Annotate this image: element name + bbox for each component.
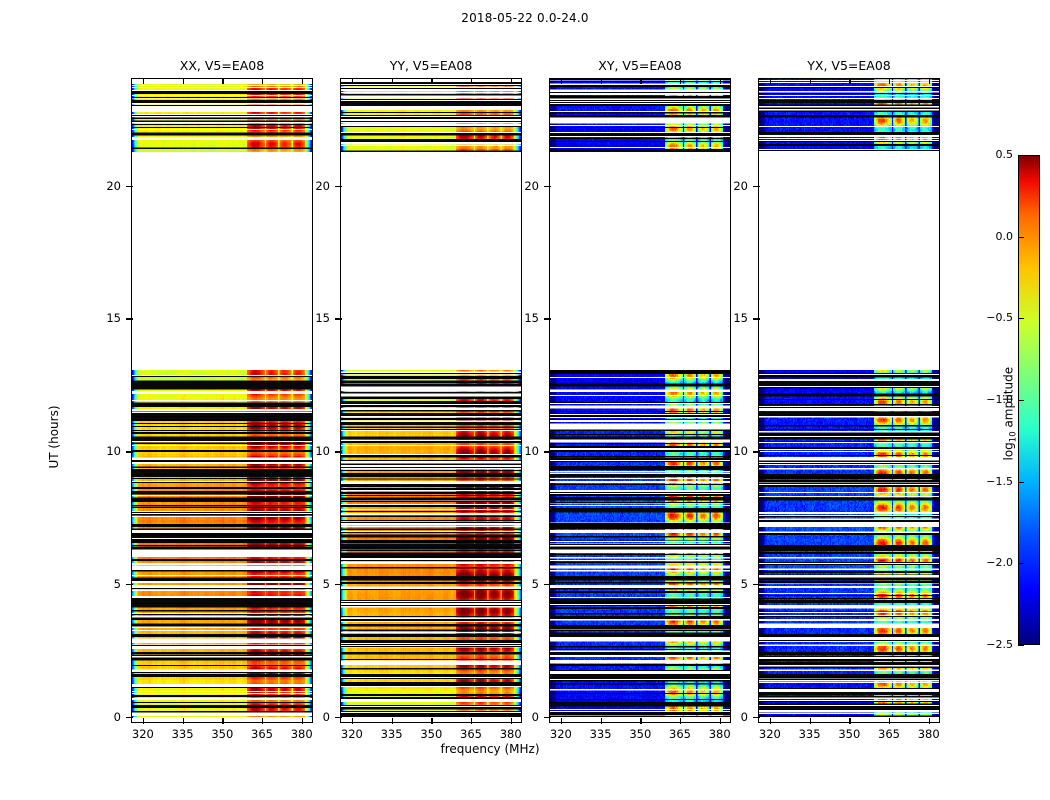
- y-tick-20-panel-xy: [544, 186, 551, 187]
- y-tick-15-panel-yx: [753, 318, 760, 319]
- spectrum-panel-yx[interactable]: [758, 78, 940, 723]
- y-tick-10-panel-xy: [544, 451, 551, 452]
- x-tick-top-365-panel-yx: [889, 78, 890, 84]
- y-tick-0-panel-yx: [753, 717, 760, 718]
- x-tick-label-380-panel-yx: 380: [909, 727, 949, 741]
- y-tick-0-panel-xx: [126, 717, 133, 718]
- y-tick-15-panel-yy: [335, 318, 342, 319]
- x-tick-label-350-panel-xx: 350: [202, 727, 242, 741]
- x-tick-label-365-panel-yx: 365: [869, 727, 909, 741]
- y-tick-0-panel-xy: [544, 717, 551, 718]
- x-tick-label-335-panel-yx: 335: [790, 727, 830, 741]
- y-tick-label-0-panel-yx: 0: [708, 710, 748, 724]
- x-tick-350-panel-xy: [640, 718, 641, 724]
- x-tick-top-320-panel-xx: [143, 78, 144, 84]
- x-tick-320-panel-xy: [561, 718, 562, 724]
- y-tick-label-15-panel-yy: 15: [290, 311, 330, 325]
- y-tick-label-15-panel-yx: 15: [708, 311, 748, 325]
- x-tick-top-380-panel-xx: [302, 78, 303, 84]
- x-tick-350-panel-yx: [849, 718, 850, 724]
- y-tick-label-5-panel-xy: 5: [499, 577, 539, 591]
- y-tick-label-20-panel-yx: 20: [708, 179, 748, 193]
- x-tick-top-350-panel-yy: [431, 78, 432, 84]
- y-tick-label-0-panel-yy: 0: [290, 710, 330, 724]
- x-tick-label-335-panel-xx: 335: [163, 727, 203, 741]
- colorbar-tick-label-5: 0.0: [973, 230, 1013, 243]
- x-tick-380-panel-yy: [511, 718, 512, 724]
- x-tick-top-380-panel-yx: [929, 78, 930, 84]
- x-tick-top-335-panel-xy: [601, 78, 602, 84]
- x-tick-label-380-panel-yy: 380: [491, 727, 531, 741]
- colorbar-label-sub: 10: [1009, 431, 1019, 442]
- colorbar-label-prefix: log: [1001, 442, 1015, 460]
- x-tick-label-365-panel-xy: 365: [660, 727, 700, 741]
- x-tick-label-380-panel-xx: 380: [282, 727, 322, 741]
- x-tick-label-320-panel-xx: 320: [123, 727, 163, 741]
- x-tick-top-380-panel-xy: [720, 78, 721, 84]
- x-tick-335-panel-yy: [392, 718, 393, 724]
- x-tick-365-panel-yy: [471, 718, 472, 724]
- y-tick-5-panel-yx: [753, 584, 760, 585]
- y-tick-15-panel-xx: [126, 318, 133, 319]
- colorbar-tick-label-1: −2.0: [973, 556, 1013, 569]
- colorbar-tick-0: [1018, 645, 1024, 646]
- y-tick-label-5-panel-yy: 5: [290, 577, 330, 591]
- y-tick-label-10-panel-xy: 10: [499, 444, 539, 458]
- x-tick-label-320-panel-xy: 320: [541, 727, 581, 741]
- x-tick-label-350-panel-yx: 350: [829, 727, 869, 741]
- y-tick-20-panel-xx: [126, 186, 133, 187]
- y-axis-title: UT (hours): [47, 377, 61, 497]
- x-tick-label-335-panel-yy: 335: [372, 727, 412, 741]
- y-tick-5-panel-xy: [544, 584, 551, 585]
- x-tick-380-panel-xx: [302, 718, 303, 724]
- y-tick-0-panel-yy: [335, 717, 342, 718]
- y-tick-20-panel-yy: [335, 186, 342, 187]
- x-tick-label-380-panel-xy: 380: [700, 727, 740, 741]
- x-tick-top-320-panel-yx: [770, 78, 771, 84]
- x-tick-380-panel-yx: [929, 718, 930, 724]
- y-tick-10-panel-yy: [335, 451, 342, 452]
- y-tick-label-10-panel-xx: 10: [81, 444, 121, 458]
- x-tick-label-365-panel-xx: 365: [242, 727, 282, 741]
- x-tick-335-panel-yx: [810, 718, 811, 724]
- x-tick-top-365-panel-xy: [680, 78, 681, 84]
- y-tick-label-0-panel-xy: 0: [499, 710, 539, 724]
- colorbar-tick-label-6: 0.5: [973, 148, 1013, 161]
- y-tick-label-15-panel-xx: 15: [81, 311, 121, 325]
- x-tick-350-panel-yy: [431, 718, 432, 724]
- x-tick-top-320-panel-yy: [352, 78, 353, 84]
- colorbar-tick-label-3: −1.0: [973, 393, 1013, 406]
- y-tick-10-panel-yx: [753, 451, 760, 452]
- x-tick-top-350-panel-yx: [849, 78, 850, 84]
- colorbar-tick-5: [1018, 237, 1024, 238]
- x-tick-label-350-panel-yy: 350: [411, 727, 451, 741]
- x-tick-365-panel-yx: [889, 718, 890, 724]
- y-tick-5-panel-yy: [335, 584, 342, 585]
- x-tick-top-365-panel-yy: [471, 78, 472, 84]
- x-tick-label-335-panel-xy: 335: [581, 727, 621, 741]
- x-tick-top-350-panel-xx: [222, 78, 223, 84]
- spectrum-panel-xx[interactable]: [131, 78, 313, 723]
- colorbar-tick-6: [1018, 155, 1024, 156]
- x-tick-top-335-panel-xx: [183, 78, 184, 84]
- panel-title-xy: XY, V5=EA08: [549, 58, 731, 73]
- y-tick-label-20-panel-yy: 20: [290, 179, 330, 193]
- y-tick-15-panel-xy: [544, 318, 551, 319]
- x-tick-365-panel-xy: [680, 718, 681, 724]
- colorbar-tick-2: [1018, 482, 1024, 483]
- x-tick-top-335-panel-yy: [392, 78, 393, 84]
- x-tick-335-panel-xy: [601, 718, 602, 724]
- colorbar-tick-label-4: −0.5: [973, 311, 1013, 324]
- y-tick-label-5-panel-yx: 5: [708, 577, 748, 591]
- y-tick-5-panel-xx: [126, 584, 133, 585]
- x-tick-320-panel-xx: [143, 718, 144, 724]
- spectrum-panel-xy[interactable]: [549, 78, 731, 723]
- x-tick-top-320-panel-xy: [561, 78, 562, 84]
- panel-title-yx: YX, V5=EA08: [758, 58, 940, 73]
- y-tick-label-5-panel-xx: 5: [81, 577, 121, 591]
- y-tick-label-0-panel-xx: 0: [81, 710, 121, 724]
- x-tick-380-panel-xy: [720, 718, 721, 724]
- x-tick-350-panel-xx: [222, 718, 223, 724]
- spectrum-panel-yy[interactable]: [340, 78, 522, 723]
- figure-canvas: 2018-05-22 0.0-24.0 XX, V5=EA08 YY, V5=E…: [0, 0, 1050, 800]
- x-tick-top-335-panel-yx: [810, 78, 811, 84]
- colorbar-tick-3: [1018, 400, 1024, 401]
- colorbar-tick-4: [1018, 318, 1024, 319]
- x-tick-335-panel-xx: [183, 718, 184, 724]
- x-tick-top-365-panel-xx: [262, 78, 263, 84]
- colorbar-tick-label-0: −2.5: [973, 638, 1013, 651]
- y-tick-label-20-panel-xx: 20: [81, 179, 121, 193]
- x-tick-label-365-panel-yy: 365: [451, 727, 491, 741]
- colorbar-tick-1: [1018, 563, 1024, 564]
- x-tick-label-320-panel-yx: 320: [750, 727, 790, 741]
- x-tick-label-320-panel-yy: 320: [332, 727, 372, 741]
- x-tick-top-380-panel-yy: [511, 78, 512, 84]
- figure-suptitle: 2018-05-22 0.0-24.0: [0, 11, 1050, 25]
- panel-title-yy: YY, V5=EA08: [340, 58, 522, 73]
- y-tick-20-panel-yx: [753, 186, 760, 187]
- y-tick-label-20-panel-xy: 20: [499, 179, 539, 193]
- x-tick-top-350-panel-xy: [640, 78, 641, 84]
- y-tick-10-panel-xx: [126, 451, 133, 452]
- x-axis-title: frequency (MHz): [400, 742, 580, 756]
- y-tick-label-10-panel-yy: 10: [290, 444, 330, 458]
- x-tick-365-panel-xx: [262, 718, 263, 724]
- panel-title-xx: XX, V5=EA08: [131, 58, 313, 73]
- y-tick-label-10-panel-yx: 10: [708, 444, 748, 458]
- x-tick-320-panel-yy: [352, 718, 353, 724]
- x-tick-label-350-panel-xy: 350: [620, 727, 660, 741]
- x-tick-320-panel-yx: [770, 718, 771, 724]
- colorbar-tick-label-2: −1.5: [973, 475, 1013, 488]
- y-tick-label-15-panel-xy: 15: [499, 311, 539, 325]
